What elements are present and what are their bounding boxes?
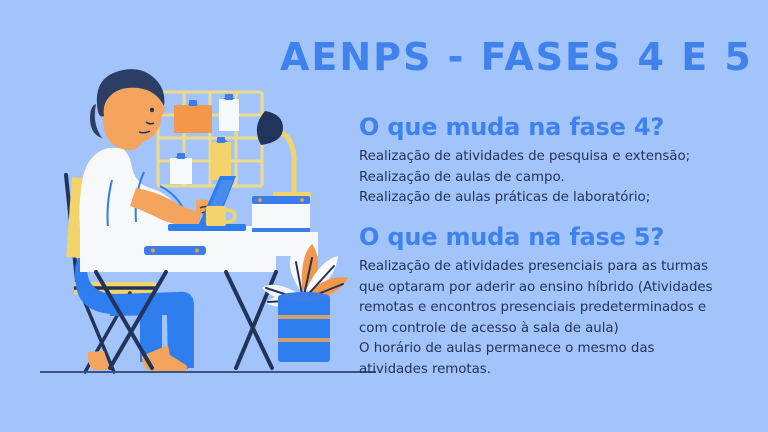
section-body-fase-4: Realização de atividades de pesquisa e e… (359, 147, 759, 209)
body-line: remotas e encontros presenciais predeter… (359, 298, 759, 319)
body-line: atividades remotas. (359, 360, 759, 381)
desk-lamp-icon (257, 111, 311, 198)
grid-board-icon (158, 92, 262, 186)
sticky-note-icon (212, 137, 231, 180)
body-line: O horário de aulas permanece o mesmo das (359, 339, 759, 360)
body-line: com controle de acesso à sala de aula) (359, 319, 759, 340)
body-line: Realização de aulas de campo. (359, 168, 759, 189)
page-title: AENPS - FASES 4 E 5 (280, 34, 750, 80)
sticky-note-icon (174, 100, 212, 133)
body-line: que optaram por aderir ao ensino híbrido… (359, 278, 759, 299)
sticky-note-icon (170, 153, 192, 184)
section-heading-fase-4: O que muda na fase 4? (359, 112, 759, 142)
body-line: Realização de aulas práticas de laborató… (359, 188, 759, 209)
section-heading-fase-5: O que muda na fase 5? (359, 222, 759, 252)
body-line: Realização de atividades de pesquisa e e… (359, 147, 759, 168)
book-stack-icon (244, 196, 318, 256)
section-body-fase-5: Realização de atividades presenciais par… (359, 257, 759, 380)
section-fase-5: O que muda na fase 5? Realização de ativ… (359, 222, 759, 380)
sticky-note-icon (219, 94, 239, 131)
body-line: Realização de atividades presenciais par… (359, 257, 759, 278)
mug-icon (206, 206, 235, 226)
person-head (90, 69, 165, 150)
presentation-slide: AENPS - FASES 4 E 5 O que muda na fase 4… (0, 0, 768, 432)
section-fase-4: O que muda na fase 4? Realização de ativ… (359, 112, 759, 209)
